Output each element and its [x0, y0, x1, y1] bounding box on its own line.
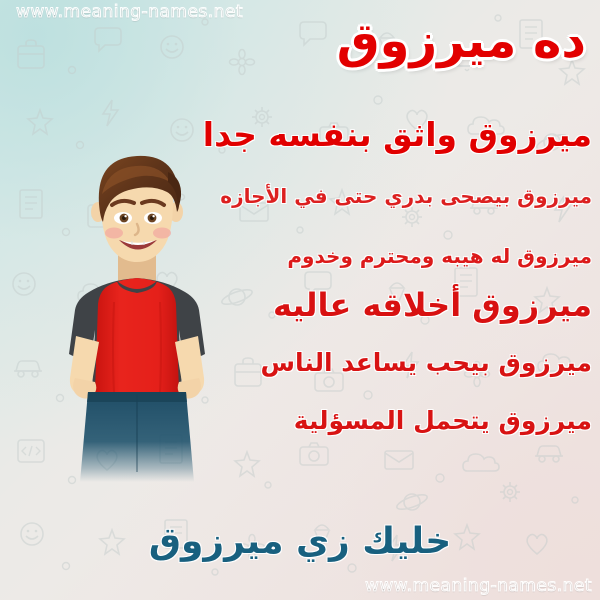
trait-line: ميرزوق يتحمل المسؤلية	[4, 384, 592, 442]
trait-list: ميرزوق واثق بنفسه جدا ميرزوق بيصحى بدري …	[4, 106, 592, 442]
name-meaning-card: ده ميرزوق ميرزوق واثق بنفسه جدا ميرزوق ب…	[0, 0, 600, 600]
trait-line: ميرزوق أخلاقه عاليه	[4, 276, 592, 328]
watermark-bottom: www.meaning-names.net	[365, 576, 592, 596]
watermark-top: www.meaning-names.net	[16, 2, 243, 22]
page-title: ده ميرزوق	[337, 16, 586, 66]
trait-line: ميرزوق بيحب يساعد الناس	[4, 328, 592, 384]
trait-line: ميرزوق له هيبه ومحترم وخدوم	[4, 216, 592, 276]
trait-line: ميرزوق بيصحى بدري حتى في الأجازه	[4, 158, 592, 216]
trait-line: ميرزوق واثق بنفسه جدا	[4, 106, 592, 158]
call-to-action-text: خليك زي ميرزوق	[0, 521, 600, 562]
